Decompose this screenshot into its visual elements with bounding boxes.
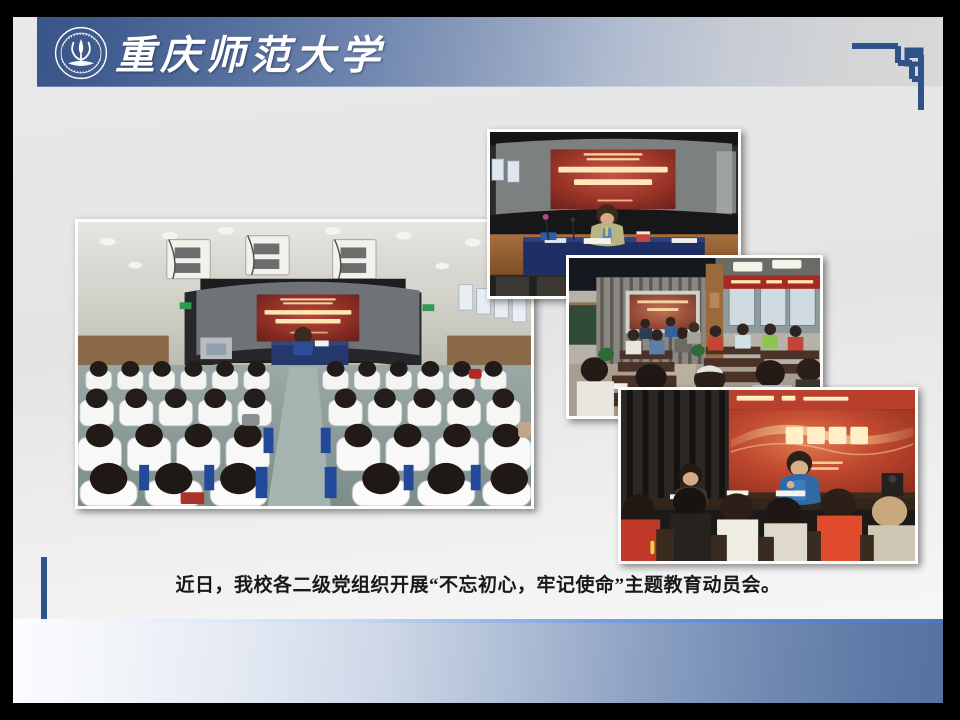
- top-right-corner-ornament: [852, 39, 928, 117]
- presentation-slide: 重庆师范大学: [13, 17, 943, 703]
- university-logo-icon: [54, 26, 108, 80]
- photo-auditorium[interactable]: [75, 219, 534, 509]
- band-body: [13, 623, 943, 703]
- university-name: 重庆师范大学: [115, 21, 385, 83]
- photo-ceremony[interactable]: [618, 387, 918, 564]
- slide-stage: 重庆师范大学: [0, 0, 960, 720]
- slide-caption: 近日，我校各二级党组织开展“不忘初心，牢记使命”主题教育动员会。: [13, 570, 943, 597]
- header-banner: 重庆师范大学: [37, 17, 943, 87]
- bottom-gradient-band: [13, 619, 943, 703]
